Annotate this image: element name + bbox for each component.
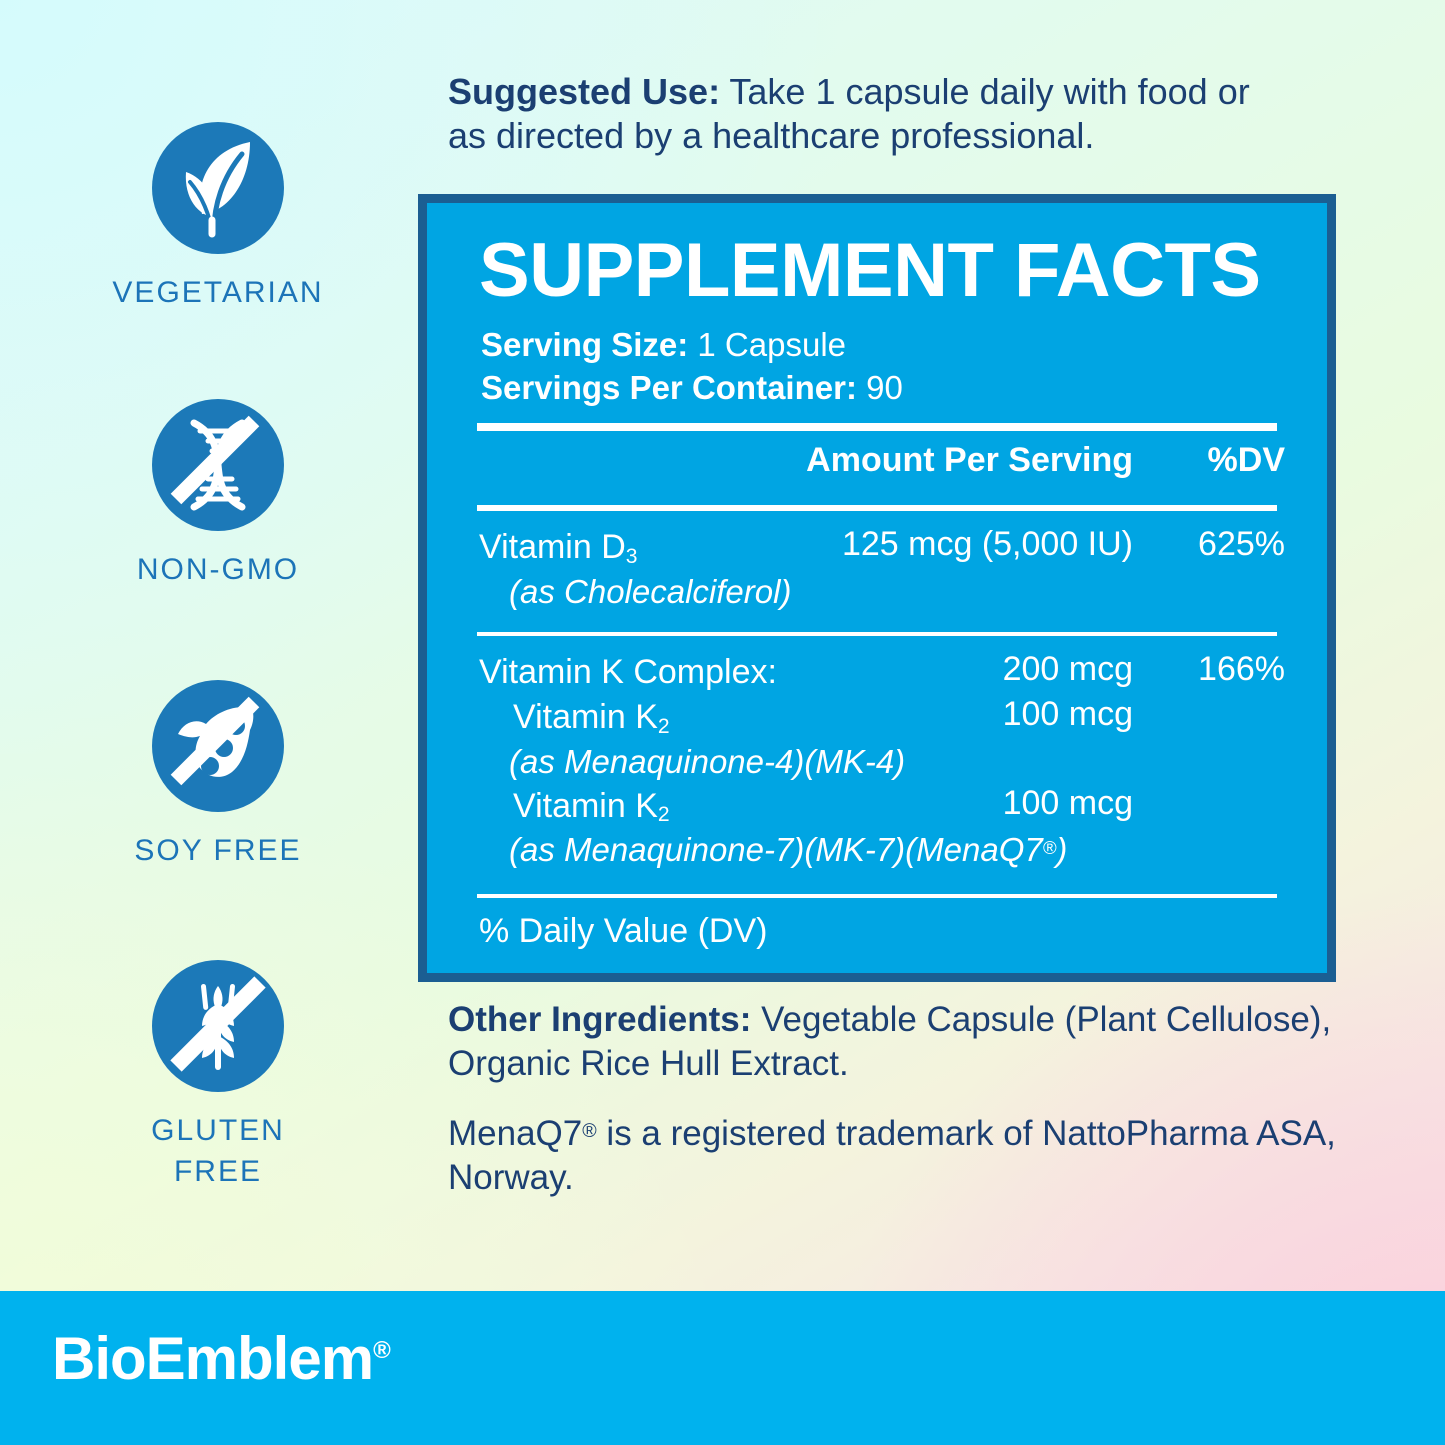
servings-per-container-label: Servings Per Container: [481,369,857,406]
table-subrow: 100 mcg Vitamin K2 (as Menaquinone-4)(MK… [479,695,1285,783]
subrow-source-prefix: (as Menaquinone-7)(MK-7)(MenaQ7 [509,831,1043,868]
suggested-use-heading: Suggested Use: [448,71,720,112]
other-ingredients-heading: Other Ingredients: [448,1000,751,1039]
subrow-nutrient-name: Vitamin K2 [513,695,1285,741]
supplement-facts-title: SUPPLEMENT FACTS [479,233,1297,309]
servings-per-container-line: Servings Per Container: 90 [481,366,1297,409]
soybean-icon [150,678,286,814]
brand-logo: BioEmblem® [52,1329,390,1389]
registered-trademark-icon: ® [373,1337,390,1364]
rule-above-dv-note [477,894,1277,898]
row-amount: 125 mcg (5,000 IU) [842,525,1133,564]
trademark-brand: MenaQ7 [448,1114,582,1153]
badge-label: GLUTEN FREE [68,1110,368,1193]
subrow-amount: 100 mcg [1003,695,1133,734]
badge-gluten-free: GLUTEN FREE [68,958,368,1193]
table-subrow: 100 mcg Vitamin K2 (as Menaquinone-7)(MK… [479,784,1285,872]
serving-size-label: Serving Size: [481,326,688,363]
badge-non-gmo: NON-GMO [68,397,368,590]
suggested-use-text: Suggested Use: Take 1 capsule daily with… [448,70,1278,158]
subrow-source-suffix: ) [1056,831,1067,868]
subrow-nutrient-subscript: 2 [658,715,670,738]
serving-size-value: 1 Capsule [688,326,846,363]
badge-label: SOY FREE [68,830,368,871]
leaf-icon [150,120,286,256]
row-dv: 625% [1153,525,1285,564]
subrow-amount: 100 mcg [1003,784,1133,823]
supplement-facts-page: VEGETARIAN [0,0,1445,1445]
subrow-nutrient-source: (as Menaquinone-7)(MK-7)(MenaQ7®) [509,829,1285,872]
serving-size-line: Serving Size: 1 Capsule [481,323,1297,366]
trademark-note-text: MenaQ7® is a registered trademark of Nat… [448,1112,1348,1200]
rule-below-column-headers [477,505,1277,511]
badge-soy-free: SOY FREE [68,678,368,871]
dna-icon [150,397,286,533]
brand-logo-text: BioEmblem [52,1325,373,1392]
row-nutrient-subscript: 3 [626,545,638,568]
row-dv: 166% [1153,650,1285,689]
column-header-amount: Amount Per Serving [806,441,1133,480]
servings-per-container-value: 90 [857,369,903,406]
registered-trademark-icon: ® [1043,837,1057,858]
subrow-nutrient-subscript: 2 [658,803,670,826]
subrow-nutrient-name-text: Vitamin K [513,787,658,825]
rule-between-nutrients [477,632,1277,636]
badge-vegetarian: VEGETARIAN [68,120,368,313]
wheat-icon [150,958,286,1094]
daily-value-note: % Daily Value (DV) [479,912,1297,951]
footer-bar: BioEmblem® [0,1291,1445,1445]
table-column-headers: Amount Per Serving %DV [479,441,1285,497]
badge-label: NON-GMO [68,549,368,590]
supplement-facts-panel: SUPPLEMENT FACTS Serving Size: 1 Capsule… [418,194,1336,982]
registered-trademark-icon: ® [582,1120,596,1142]
other-ingredients-text: Other Ingredients: Vegetable Capsule (Pl… [448,998,1348,1086]
table-row: 125 mcg (5,000 IU) 625% Vitamin D3 (as C… [479,525,1285,613]
row-nutrient-name-text: Vitamin D [479,528,626,566]
subrow-nutrient-source: (as Menaquinone-4)(MK-4) [509,741,1285,784]
column-header-dv: %DV [1153,441,1285,480]
row-amount: 200 mcg [1003,650,1133,689]
subrow-nutrient-name-text: Vitamin K [513,698,658,736]
subrow-nutrient-name: Vitamin K2 [513,784,1285,830]
row-nutrient-source: (as Cholecalciferol) [509,571,1285,614]
badge-label: VEGETARIAN [68,272,368,313]
table-row: 200 mcg 166% Vitamin K Complex: [479,650,1285,696]
rule-above-column-headers [477,423,1277,431]
